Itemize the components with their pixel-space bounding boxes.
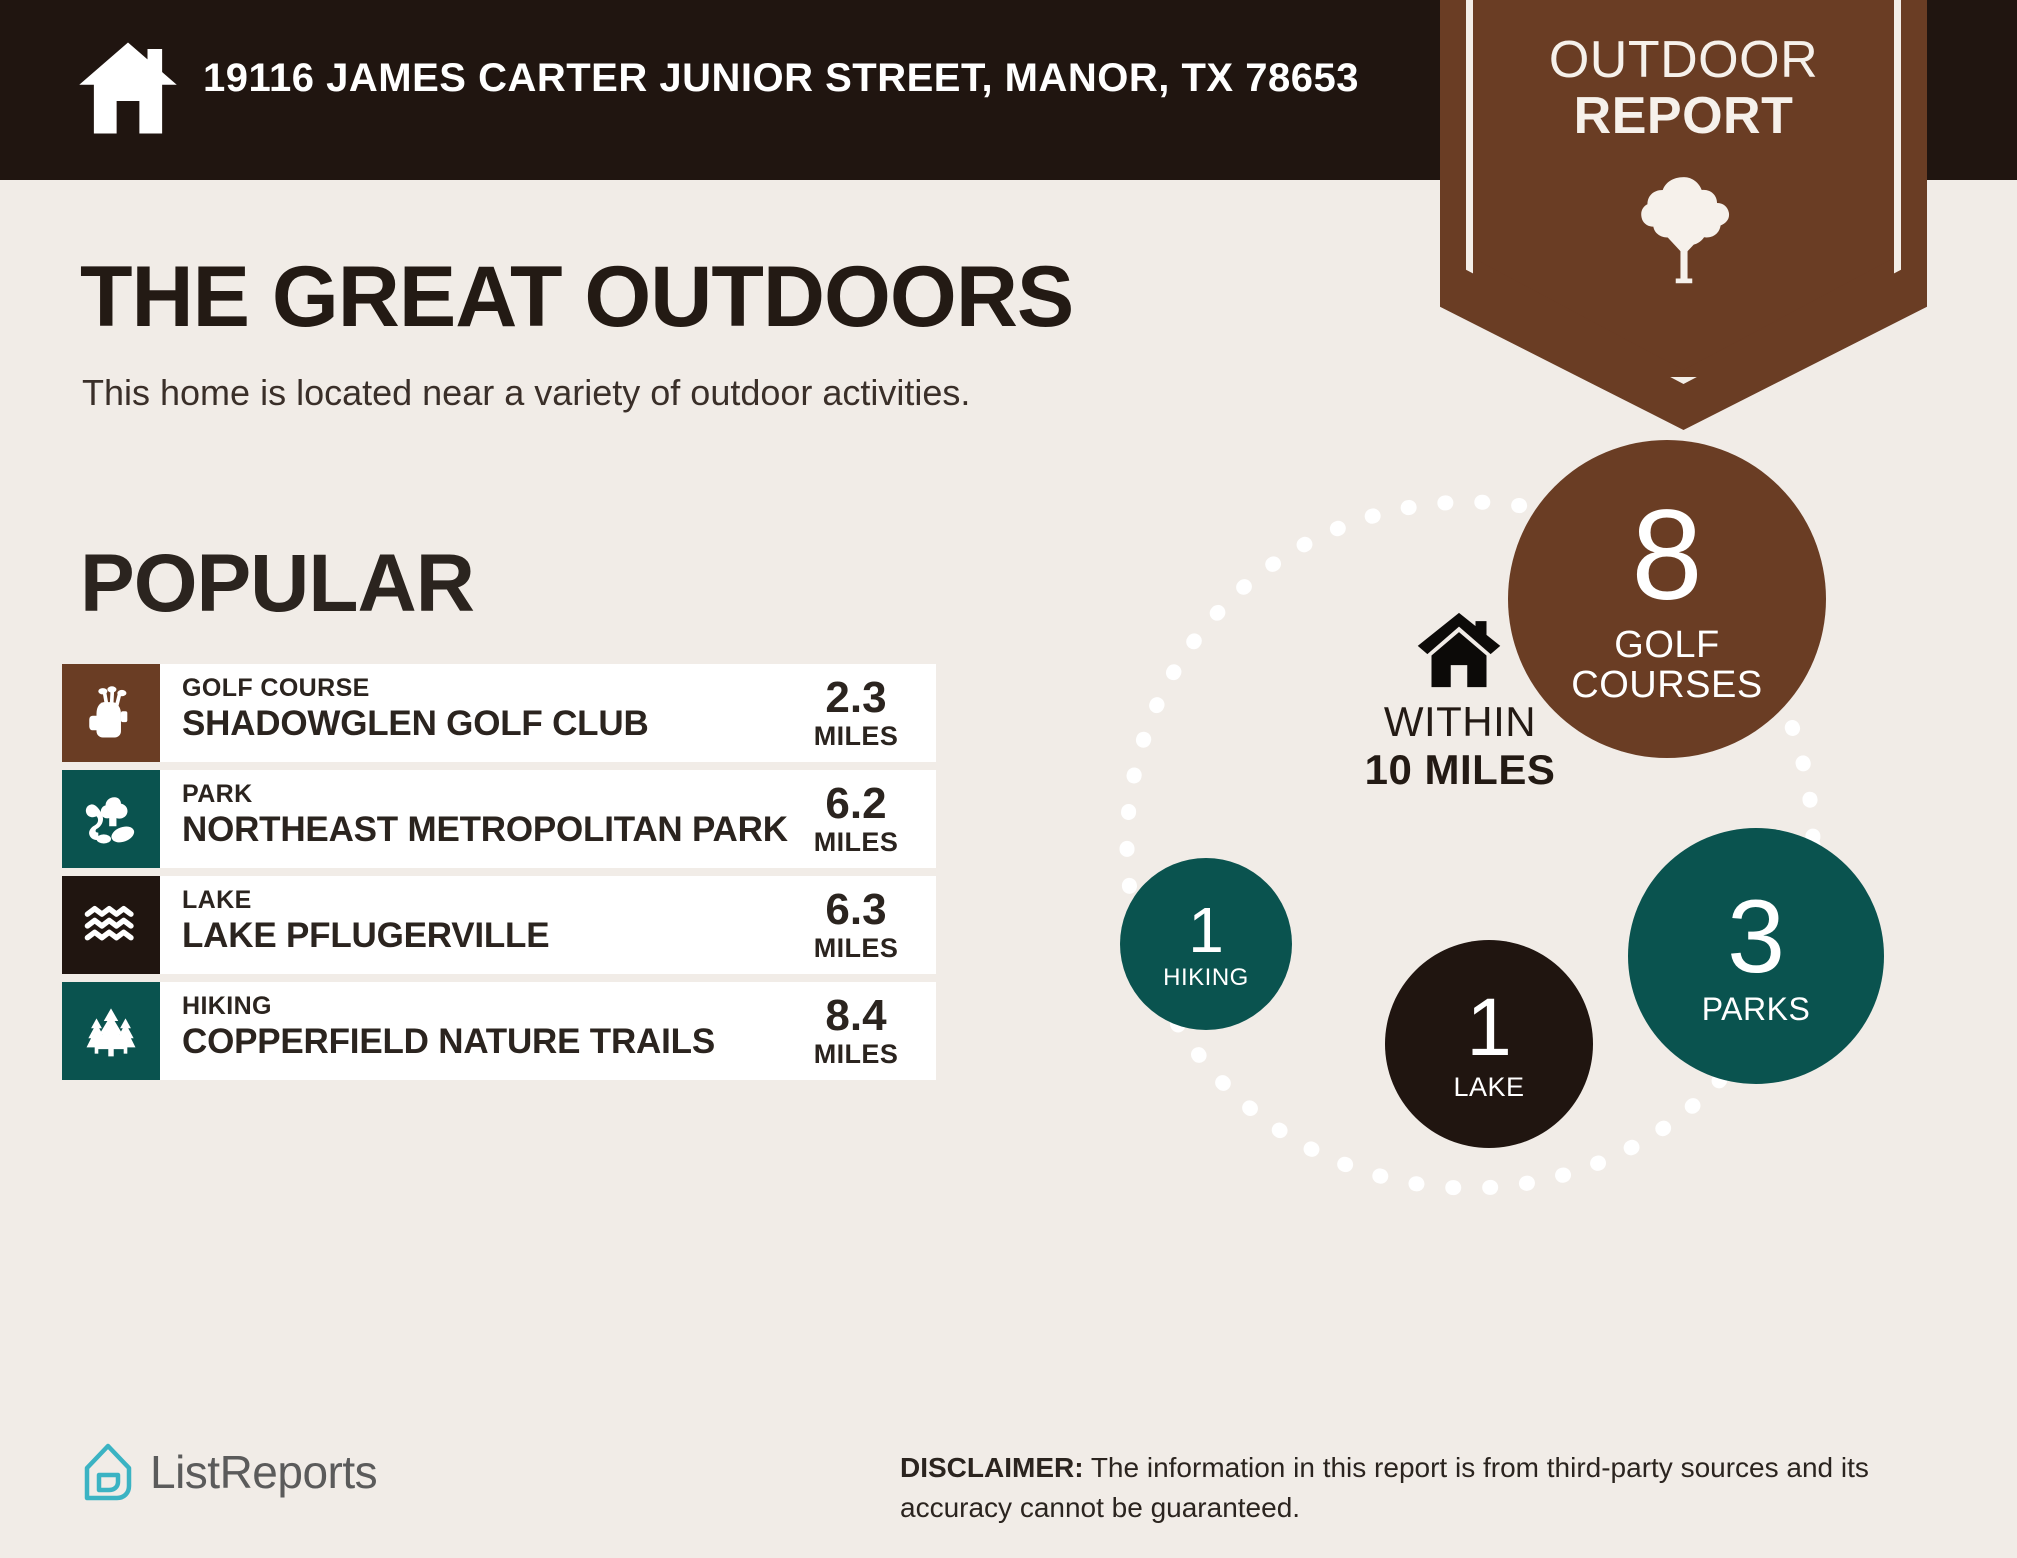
poi-distance: 6.2 MILES [792, 770, 936, 868]
water-waves-icon [82, 896, 140, 954]
poi-icon-tile [62, 664, 160, 762]
poi-distance: 6.3 MILES [792, 876, 936, 974]
poi-distance-unit: MILES [792, 827, 920, 857]
poi-info: GOLF COURSE SHADOWGLEN GOLF CLUB [160, 664, 792, 762]
tree-icon [1636, 170, 1732, 288]
stat-label: PARKS [1702, 993, 1811, 1027]
pine-trees-icon [82, 1002, 140, 1060]
stat-count: 8 [1631, 492, 1702, 620]
poi-distance-unit: MILES [792, 933, 920, 963]
within-10-miles-diagram: 8 GOLF COURSES 3 PARKS 1 LAKE 1 HIKING W… [1040, 440, 1970, 1270]
badge-title-line1: OUTDOOR [1440, 32, 1927, 88]
poi-name: NORTHEAST METROPOLITAN PARK [182, 809, 792, 850]
list-item[interactable]: HIKING COPPERFIELD NATURE TRAILS 8.4 MIL… [62, 982, 936, 1080]
golf-bag-icon [82, 684, 140, 742]
badge-title-line2: REPORT [1440, 88, 1927, 144]
poi-name: LAKE PFLUGERVILLE [182, 915, 792, 956]
outdoor-report-badge: OUTDOOR REPORT [1440, 0, 1927, 430]
within-caption: WITHIN 10 MILES [1255, 698, 1665, 794]
listreports-logo[interactable]: ListReports [82, 1442, 377, 1502]
poi-category: HIKING [182, 992, 792, 1021]
list-item[interactable]: GOLF COURSE SHADOWGLEN GOLF CLUB 2.3 MIL… [62, 664, 936, 762]
list-item[interactable]: PARK NORTHEAST METROPOLITAN PARK 6.2 MIL… [62, 770, 936, 868]
poi-distance-value: 6.3 [792, 887, 920, 933]
home-icon [1415, 610, 1503, 690]
header-address: 19116 JAMES CARTER JUNIOR STREET, MANOR,… [203, 56, 1359, 101]
poi-distance-value: 6.2 [792, 781, 920, 827]
popular-list: GOLF COURSE SHADOWGLEN GOLF CLUB 2.3 MIL… [62, 664, 936, 1088]
poi-info: HIKING COPPERFIELD NATURE TRAILS [160, 982, 792, 1080]
park-tree-path-icon [82, 790, 140, 848]
stat-label: LAKE [1453, 1073, 1524, 1101]
stat-label: HIKING [1163, 965, 1249, 990]
poi-category: PARK [182, 780, 792, 809]
poi-info: LAKE LAKE PFLUGERVILLE [160, 876, 792, 974]
within-caption-line2: 10 MILES [1255, 746, 1665, 794]
page-title: THE GREAT OUTDOORS [80, 248, 1073, 347]
home-icon [76, 36, 180, 140]
poi-distance-unit: MILES [792, 721, 920, 751]
poi-category: GOLF COURSE [182, 674, 792, 703]
stat-bubble-hiking[interactable]: 1 HIKING [1120, 858, 1292, 1030]
within-caption-line1: WITHIN [1255, 698, 1665, 746]
stat-bubble-lake[interactable]: 1 LAKE [1385, 940, 1593, 1148]
disclaimer: DISCLAIMER: The information in this repo… [900, 1448, 1960, 1528]
stat-bubble-parks[interactable]: 3 PARKS [1628, 828, 1884, 1084]
stat-count: 1 [1466, 987, 1512, 1069]
stat-count: 3 [1727, 885, 1785, 989]
poi-icon-tile [62, 982, 160, 1080]
popular-heading: POPULAR [80, 537, 474, 631]
poi-category: LAKE [182, 886, 792, 915]
listreports-house-logo-icon [82, 1442, 134, 1502]
poi-icon-tile [62, 770, 160, 868]
poi-name: COPPERFIELD NATURE TRAILS [182, 1021, 792, 1062]
stat-label-line1: GOLF [1614, 626, 1719, 666]
poi-name: SHADOWGLEN GOLF CLUB [182, 703, 792, 744]
list-item[interactable]: LAKE LAKE PFLUGERVILLE 6.3 MILES [62, 876, 936, 974]
poi-info: PARK NORTHEAST METROPOLITAN PARK [160, 770, 792, 868]
poi-distance-value: 8.4 [792, 993, 920, 1039]
poi-icon-tile [62, 876, 160, 974]
stat-count: 1 [1188, 898, 1224, 962]
poi-distance: 8.4 MILES [792, 982, 936, 1080]
listreports-logo-text: ListReports [150, 1445, 377, 1499]
poi-distance-unit: MILES [792, 1039, 920, 1069]
badge-title: OUTDOOR REPORT [1440, 32, 1927, 144]
poi-distance: 2.3 MILES [792, 664, 936, 762]
disclaimer-label: DISCLAIMER: [900, 1452, 1084, 1483]
page-subtitle: This home is located near a variety of o… [82, 372, 970, 414]
poi-distance-value: 2.3 [792, 675, 920, 721]
